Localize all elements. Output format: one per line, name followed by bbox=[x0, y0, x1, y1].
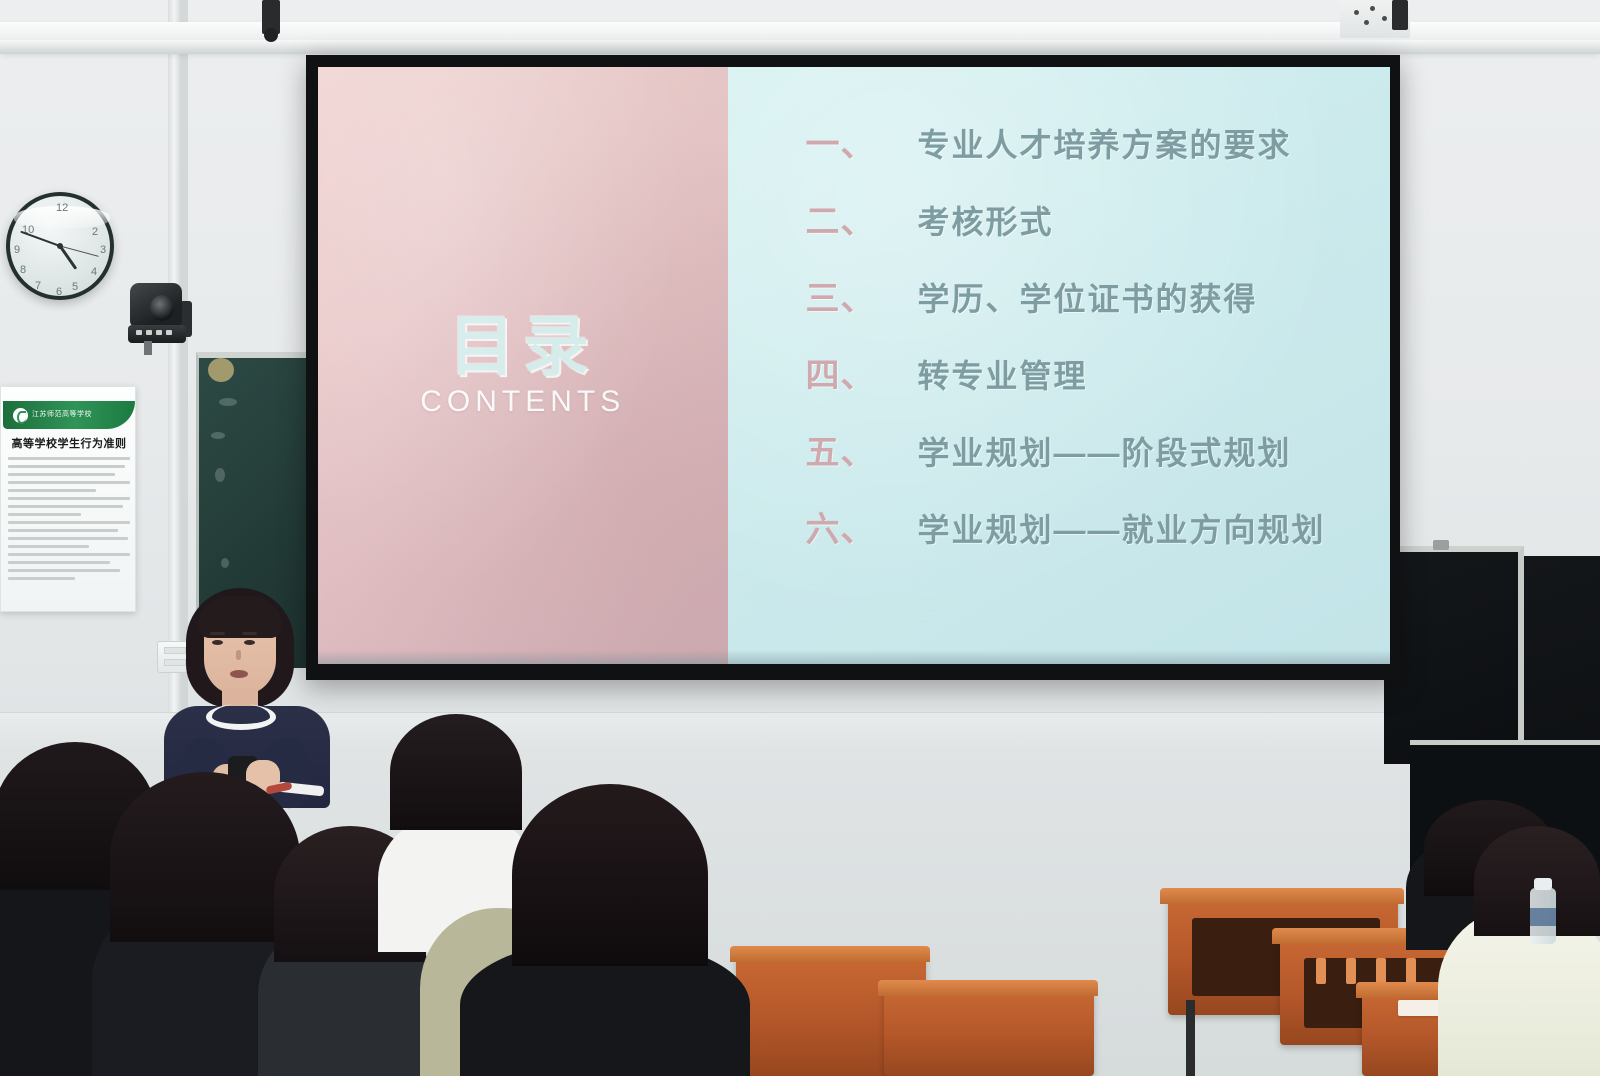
toc-number: 三、 bbox=[806, 271, 918, 320]
screen-bottom-shading bbox=[318, 650, 1390, 664]
toc-number: 五、 bbox=[806, 425, 918, 474]
wall-clock: 12 2 3 4 5 6 7 8 9 10 bbox=[6, 192, 114, 300]
screen-mount-bracket-left bbox=[262, 0, 280, 34]
toc-item: 五、 学业规划——阶段式规划 bbox=[806, 425, 1390, 474]
poster-org-name: 江苏师范高等学校 bbox=[32, 411, 92, 419]
screen-mount-bracket-right bbox=[1392, 0, 1408, 30]
toc-label: 转专业管理 bbox=[918, 351, 1088, 397]
toc-number: 二、 bbox=[806, 194, 918, 243]
toc-label: 专业人才培养方案的要求 bbox=[918, 120, 1292, 166]
clock-number: 9 bbox=[14, 244, 20, 256]
clock-number: 2 bbox=[92, 226, 98, 238]
toc-label: 学业规划——阶段式规划 bbox=[918, 428, 1292, 474]
slide-left-panel: 目录 CONTENTS bbox=[318, 67, 728, 664]
clock-number: 4 bbox=[91, 266, 97, 278]
projection-screen-frame: 目录 CONTENTS 一、 专业人才培养方案的要求 二、 考核形式 三、 学历… bbox=[306, 55, 1400, 680]
blackboard-clip bbox=[1433, 540, 1449, 550]
slide-title-english: CONTENTS bbox=[420, 385, 625, 419]
toc-item: 四、 转专业管理 bbox=[806, 348, 1390, 397]
blackboard-tape-mark bbox=[208, 358, 234, 382]
student-desk bbox=[884, 986, 1094, 1076]
school-logo-icon bbox=[13, 408, 28, 423]
toc-item: 六、 学业规划——就业方向规划 bbox=[806, 502, 1390, 551]
toc-label: 考核形式 bbox=[918, 197, 1054, 243]
student-desk-top bbox=[878, 980, 1098, 996]
blackboard-right-panel bbox=[1384, 546, 1524, 764]
toc-item: 三、 学历、学位证书的获得 bbox=[806, 271, 1390, 320]
audience-head bbox=[110, 772, 300, 942]
toc-number: 六、 bbox=[806, 502, 918, 551]
projection-screen-surface: 目录 CONTENTS 一、 专业人才培养方案的要求 二、 考核形式 三、 学历… bbox=[318, 67, 1390, 664]
clock-number: 8 bbox=[20, 264, 26, 276]
toc-number: 四、 bbox=[806, 348, 918, 397]
screen-housing-rail-lower bbox=[0, 40, 1600, 54]
poster-header-band: 江苏师范高等学校 bbox=[3, 401, 135, 429]
clock-number: 5 bbox=[72, 281, 78, 293]
clock-number: 12 bbox=[56, 202, 68, 214]
wall-poster: 江苏师范高等学校 高等学校学生行为准则 bbox=[0, 386, 136, 612]
bottle-label bbox=[1530, 908, 1556, 926]
student-desk-top bbox=[1160, 888, 1404, 904]
toc-item: 一、 专业人才培养方案的要求 bbox=[806, 117, 1390, 166]
audience-head bbox=[390, 714, 522, 830]
classroom-scene: 12 2 3 4 5 6 7 8 9 10 江苏师范高等学校 高等学校学生行为准… bbox=[0, 0, 1600, 1076]
clock-number: 3 bbox=[100, 244, 106, 256]
student-desk-leg bbox=[1186, 1000, 1195, 1076]
clock-minute-hand bbox=[20, 231, 60, 247]
bottle-cap bbox=[1534, 878, 1552, 890]
camera-body bbox=[130, 283, 182, 327]
clock-number: 6 bbox=[56, 286, 62, 298]
camera-lens bbox=[150, 295, 174, 321]
camera-mount-stem bbox=[144, 341, 152, 355]
poster-title: 高等学校学生行为准则 bbox=[1, 435, 136, 451]
toc-number: 一、 bbox=[806, 117, 918, 166]
audience-head bbox=[512, 784, 708, 966]
clock-center-pin bbox=[57, 243, 63, 249]
slide-toc-panel: 一、 专业人才培养方案的要求 二、 考核形式 三、 学历、学位证书的获得 四、 … bbox=[728, 67, 1390, 664]
toc-label: 学业规划——就业方向规划 bbox=[918, 505, 1326, 551]
toc-label: 学历、学位证书的获得 bbox=[918, 274, 1258, 320]
poster-text-block bbox=[8, 457, 130, 585]
presenter-collar bbox=[206, 704, 276, 730]
water-bottle[interactable] bbox=[1530, 888, 1556, 944]
student-desk-top bbox=[730, 946, 930, 962]
ceiling-ptz-camera bbox=[128, 283, 190, 355]
slide-title-chinese: 目录 bbox=[449, 313, 597, 379]
clock-number: 7 bbox=[35, 280, 41, 292]
toc-item: 二、 考核形式 bbox=[806, 194, 1390, 243]
